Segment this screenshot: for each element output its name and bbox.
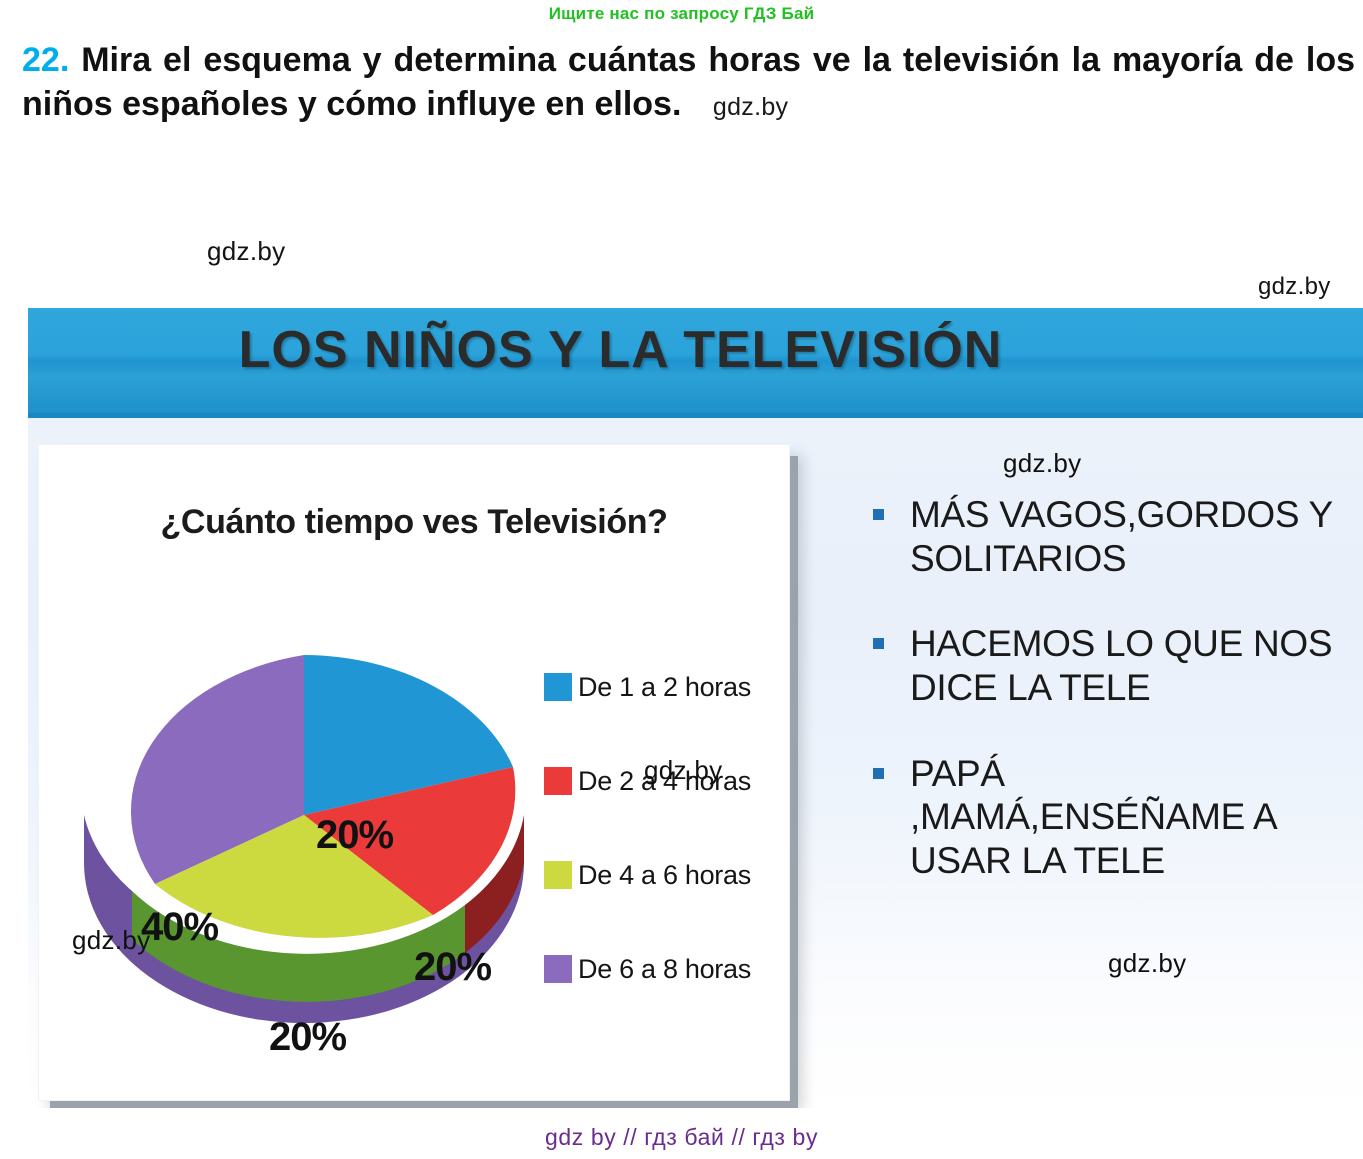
legend-swatch-icon — [544, 673, 572, 701]
pie-chart: 20% 20% 20% 40% — [69, 615, 539, 1045]
list-item: PAPÁ ,MAMÁ,ENSÉÑAME A USAR LA TELE — [873, 752, 1338, 883]
legend-swatch-icon — [544, 955, 572, 983]
page-footer: gdz by // гдз бай // гдз by — [0, 1124, 1363, 1151]
legend-item: De 6 a 8 horas — [544, 922, 779, 1016]
list-item: MÁS VAGOS,GORDOS Y SOLITARIOS — [873, 493, 1338, 580]
legend-label: De 1 a 2 horas — [578, 672, 751, 703]
list-item: HACEMOS LO QUE NOS DICE LA TELE — [873, 622, 1338, 709]
chart-legend: De 1 a 2 horas De 2 a 4 horas De 4 a 6 h… — [544, 640, 779, 1016]
pie-slice-label: 20% — [269, 1015, 346, 1060]
watermark: gdz.by — [207, 236, 285, 267]
chart-panel: ¿Cuánto tiempo ves Televisión? — [38, 444, 790, 1101]
watermark-inline: gdz.by — [691, 93, 788, 121]
exercise-statement: 22. Mira el esquema y determina cuántas … — [22, 38, 1355, 126]
legend-label: De 4 a 6 horas — [578, 860, 751, 891]
bullet-label: HACEMOS LO QUE NOS DICE LA TELE — [910, 622, 1338, 709]
pie-top-face — [131, 655, 515, 938]
watermark: gdz.by — [1258, 273, 1331, 301]
chart-title: ¿Cuánto tiempo ves Televisión? — [39, 503, 789, 542]
pie-slice-label: 20% — [414, 945, 491, 990]
promo-banner: Ищите нас по запросу ГДЗ Бай — [0, 0, 1363, 28]
exercise-number: 22. — [22, 41, 69, 79]
legend-item: De 1 a 2 horas — [544, 640, 779, 734]
presentation-slide: LOS NIÑOS Y LA TELEVISIÓN ¿Cuánto tiempo… — [28, 308, 1363, 1108]
watermark: gdz.by — [72, 925, 150, 956]
watermark: gdz.by — [1108, 948, 1186, 979]
legend-swatch-icon — [544, 861, 572, 889]
slide-banner: LOS NIÑOS Y LA TELEVISIÓN — [28, 308, 1363, 418]
watermark: gdz.by — [644, 755, 722, 786]
bullet-label: PAPÁ ,MAMÁ,ENSÉÑAME A USAR LA TELE — [910, 752, 1338, 883]
slide-title: LOS NIÑOS Y LA TELEVISIÓN — [28, 320, 1363, 380]
square-bullet-icon — [873, 768, 884, 779]
square-bullet-icon — [873, 638, 884, 649]
pie-slice-label: 40% — [141, 905, 218, 950]
legend-item: De 4 a 6 horas — [544, 828, 779, 922]
legend-label: De 6 a 8 horas — [578, 954, 751, 985]
legend-swatch-icon — [544, 767, 572, 795]
watermark: gdz.by — [1003, 448, 1081, 479]
bullet-label: MÁS VAGOS,GORDOS Y SOLITARIOS — [910, 493, 1338, 580]
pie-slice-label: 20% — [316, 813, 393, 858]
square-bullet-icon — [873, 509, 884, 520]
exercise-text: Mira el esquema y determina cuántas hora… — [22, 41, 1355, 123]
bullet-list: MÁS VAGOS,GORDOS Y SOLITARIOS HACEMOS LO… — [873, 493, 1338, 925]
